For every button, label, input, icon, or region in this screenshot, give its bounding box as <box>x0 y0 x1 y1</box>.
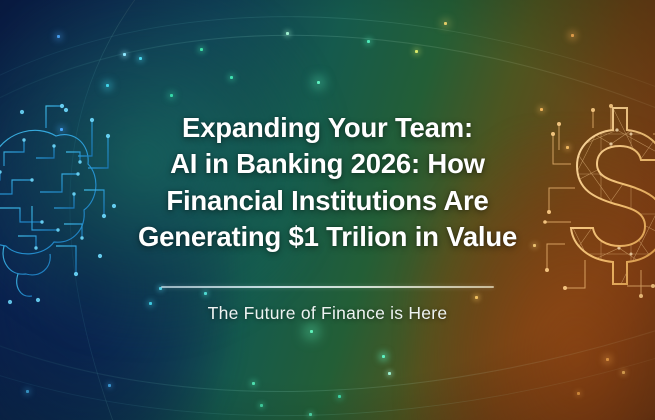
title-line-3: Financial Institutions Are <box>113 183 543 219</box>
title-line-1: Expanding Your Team: <box>113 110 543 146</box>
promotional-banner: Expanding Your Team: AI in Banking 2026:… <box>0 0 655 420</box>
banner-title: Expanding Your Team: AI in Banking 2026:… <box>113 110 543 254</box>
banner-content: Expanding Your Team: AI in Banking 2026:… <box>0 0 655 420</box>
divider-line <box>161 286 494 288</box>
title-line-2: AI in Banking 2026: How <box>113 146 543 182</box>
title-line-4: Generating $1 Trilion in Value <box>113 219 543 255</box>
banner-subtitle: The Future of Finance is Here <box>208 303 448 324</box>
